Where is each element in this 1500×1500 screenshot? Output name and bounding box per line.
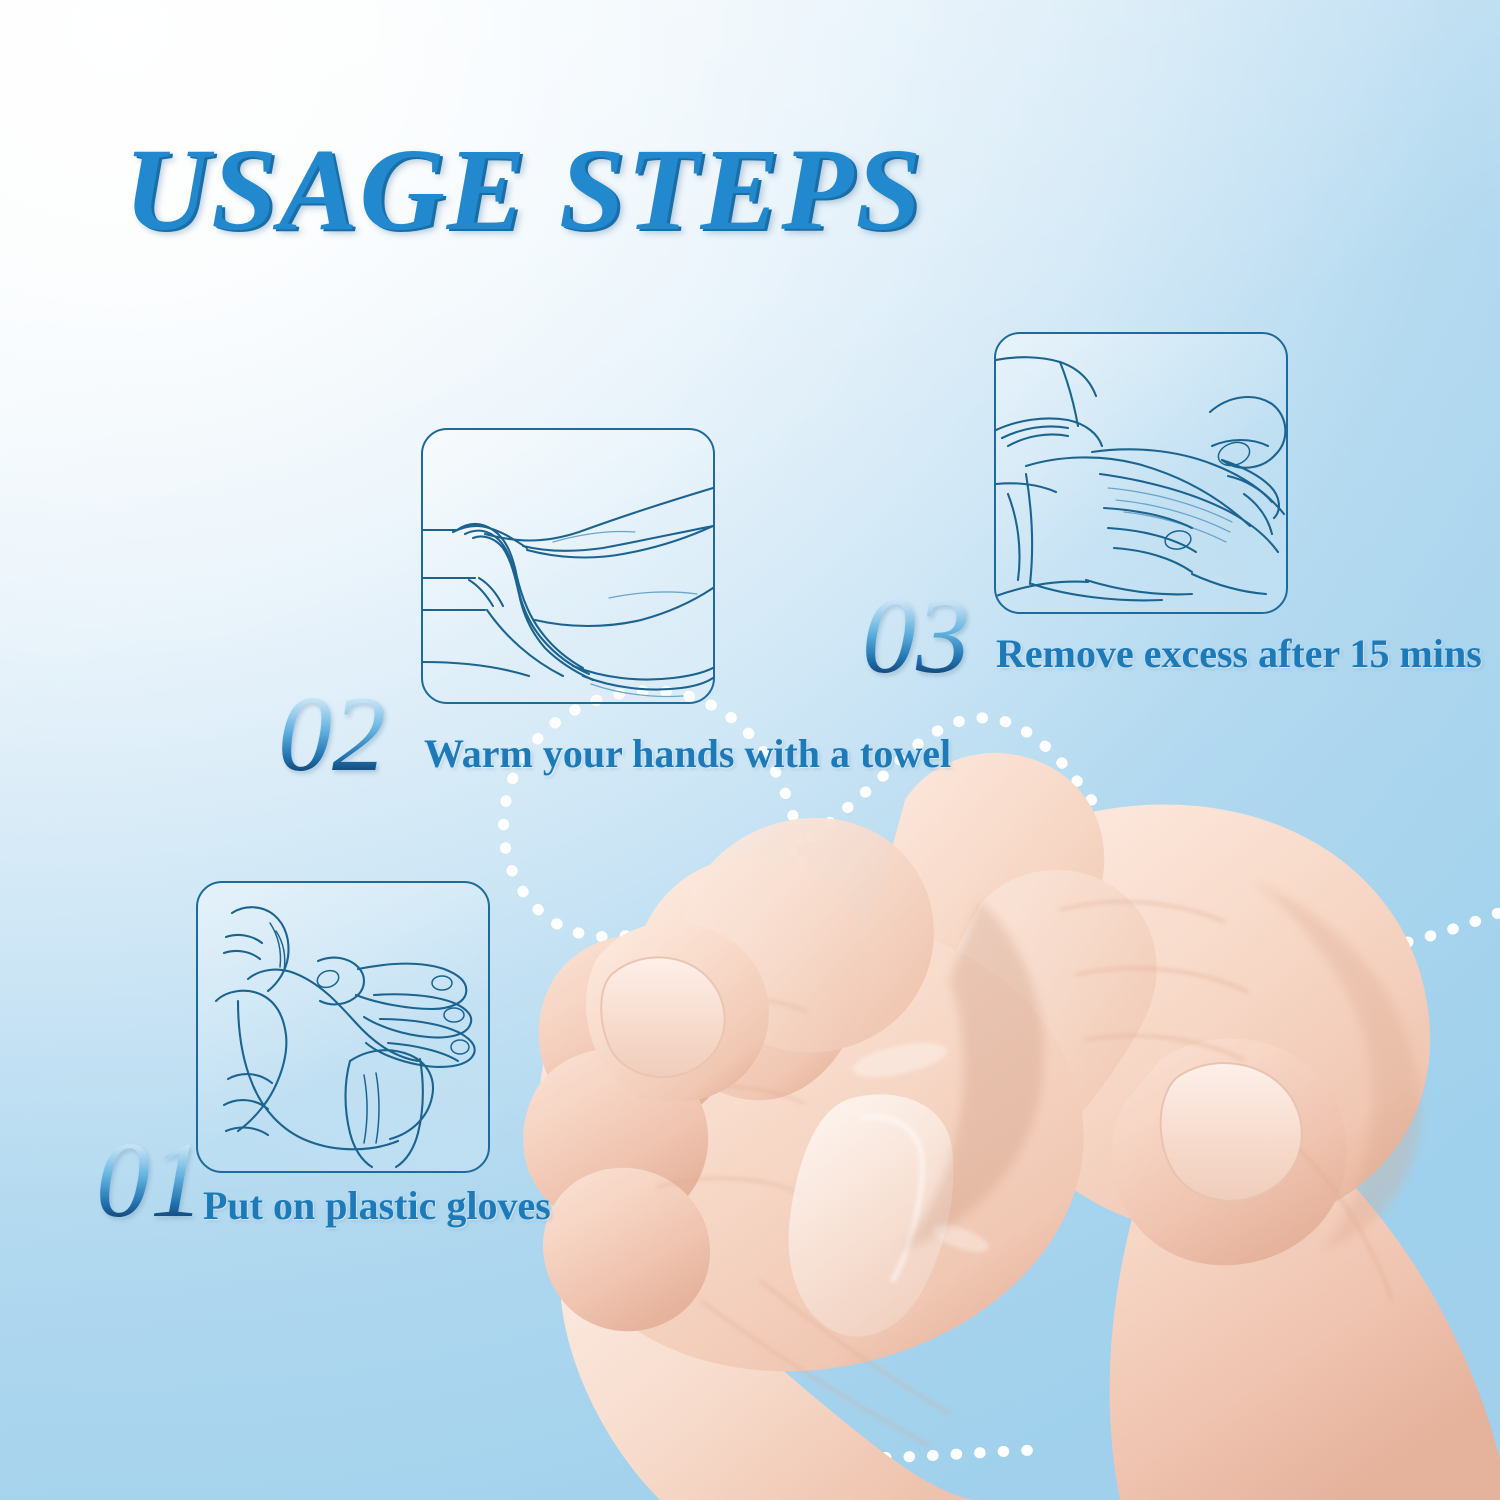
left-hand	[523, 818, 1084, 1500]
step-02-number: 02	[278, 684, 386, 787]
step-03-caption: Remove excess after 15 mins	[996, 630, 1482, 677]
step-02-caption: Warm your hands with a towel	[424, 730, 951, 777]
step-01-number: 01	[96, 1130, 204, 1233]
right-hand	[830, 753, 1500, 1500]
page-title: USAGE STEPS	[124, 131, 923, 249]
usage-steps-poster: USAGE STEPS	[0, 0, 1500, 1500]
fingertips-overlay	[586, 922, 769, 1102]
step-03-illustration-frame	[994, 332, 1288, 614]
step-02-illustration-frame	[421, 428, 715, 704]
step-01-caption: Put on plastic gloves	[203, 1182, 551, 1229]
hands-putting-on-glove-icon	[198, 883, 488, 1171]
step-01-illustration-frame	[196, 881, 490, 1173]
hands-removing-glove-icon	[996, 334, 1286, 612]
step-03-number: 03	[862, 586, 970, 689]
dotted-outline-decoration	[504, 691, 1500, 1458]
folded-towel-icon	[423, 430, 713, 702]
